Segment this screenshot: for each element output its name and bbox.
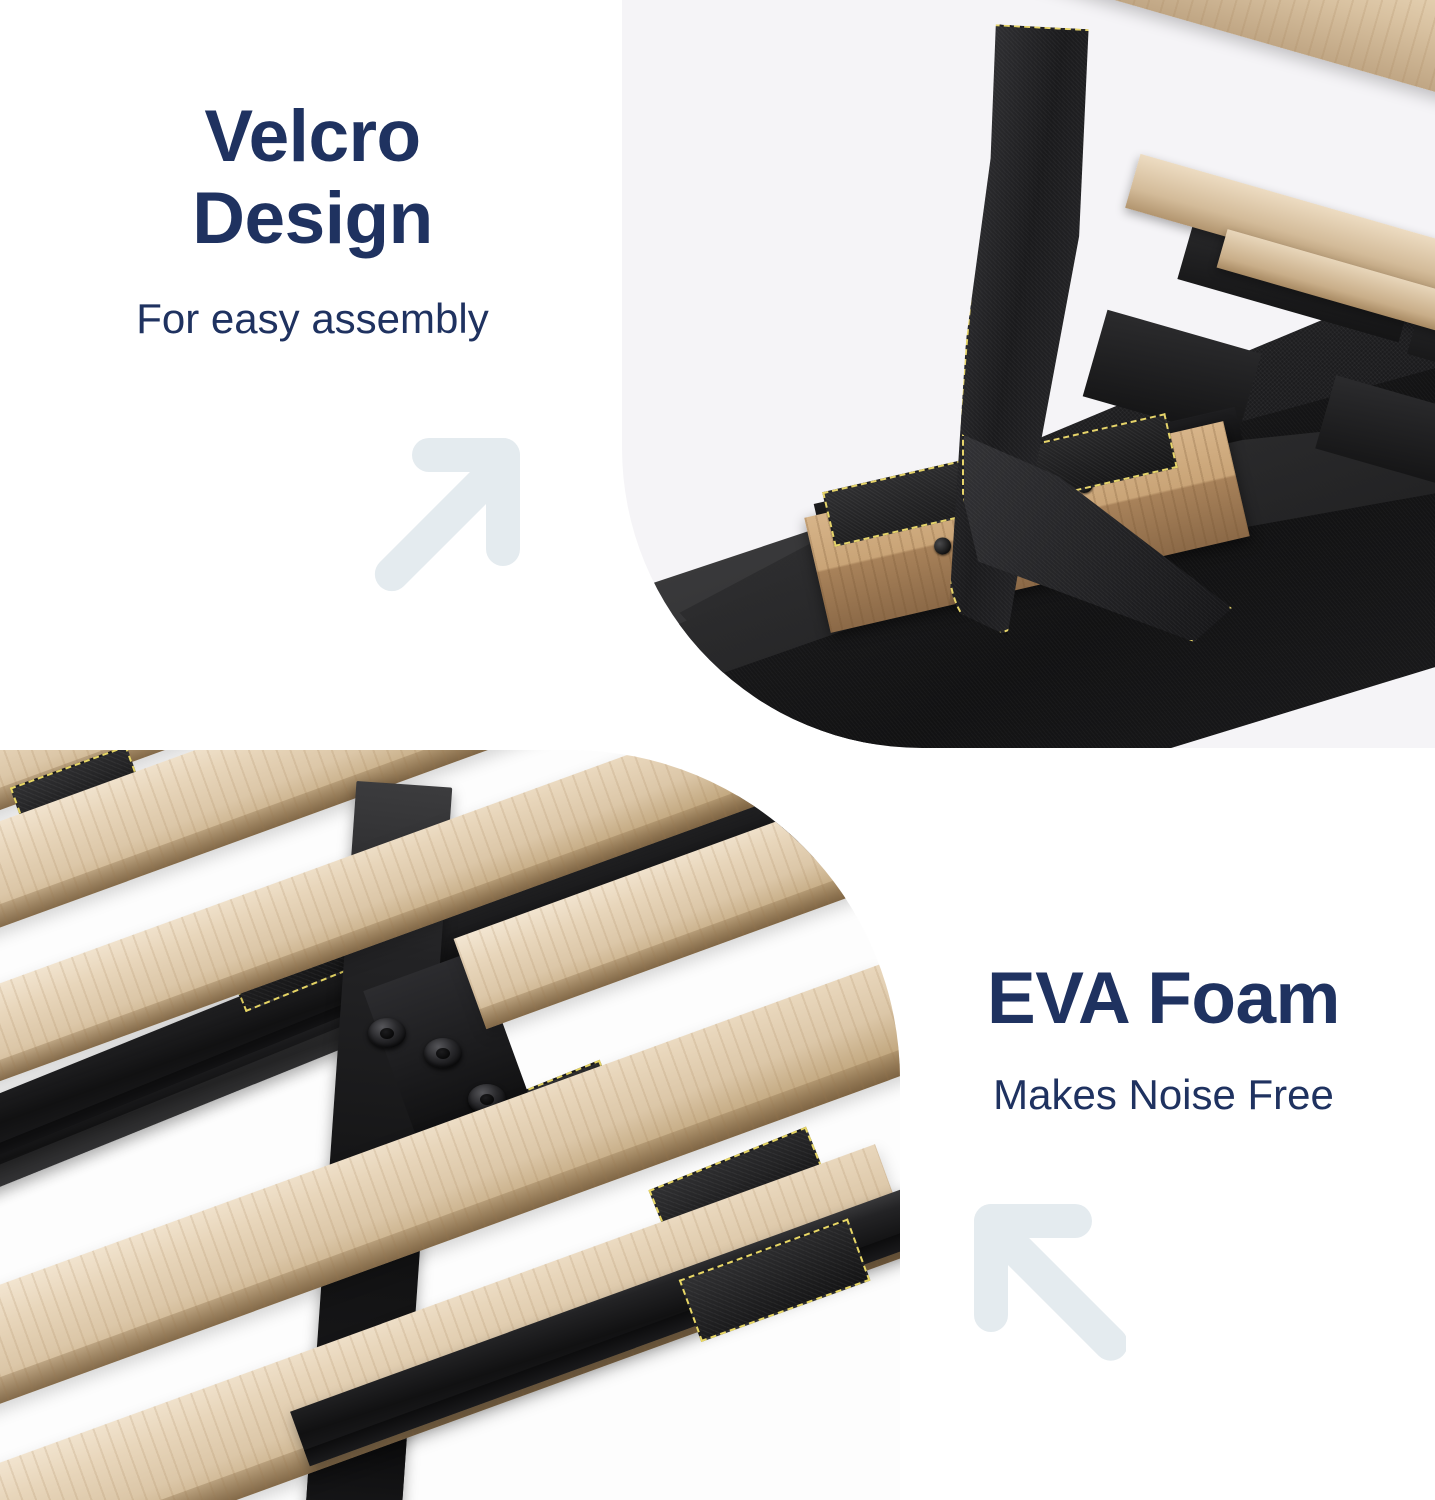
velcro-subheading: For easy assembly: [0, 294, 625, 344]
velcro-heading: Velcro Design: [0, 96, 625, 260]
bolt-1: [368, 1018, 406, 1048]
feature-panel-eva-foam: EVA Foam Makes Noise Free: [0, 750, 1435, 1500]
eva-foam-subheading: Makes Noise Free: [900, 1070, 1427, 1120]
arrow-up-left-icon: [958, 1198, 1126, 1370]
bolt-2: [424, 1038, 462, 1068]
eva-foam-photo: [0, 750, 900, 1500]
velcro-heading-line-2: Design: [0, 178, 625, 260]
feature-panel-velcro: Velcro Design For easy assembly: [0, 0, 1435, 748]
infographic-canvas: Velcro Design For easy assembly: [0, 0, 1435, 1500]
eva-foam-text-area: EVA Foam Makes Noise Free: [900, 750, 1435, 1500]
velcro-text-area: Velcro Design For easy assembly: [0, 0, 625, 748]
velcro-text-block: Velcro Design For easy assembly: [0, 96, 625, 344]
eva-foam-heading: EVA Foam: [900, 958, 1427, 1040]
velcro-photo: [622, 0, 1435, 748]
eva-foam-text-block: EVA Foam Makes Noise Free: [900, 958, 1435, 1120]
velcro-heading-line-1: Velcro: [0, 96, 625, 178]
arrow-up-right-icon: [368, 432, 526, 604]
